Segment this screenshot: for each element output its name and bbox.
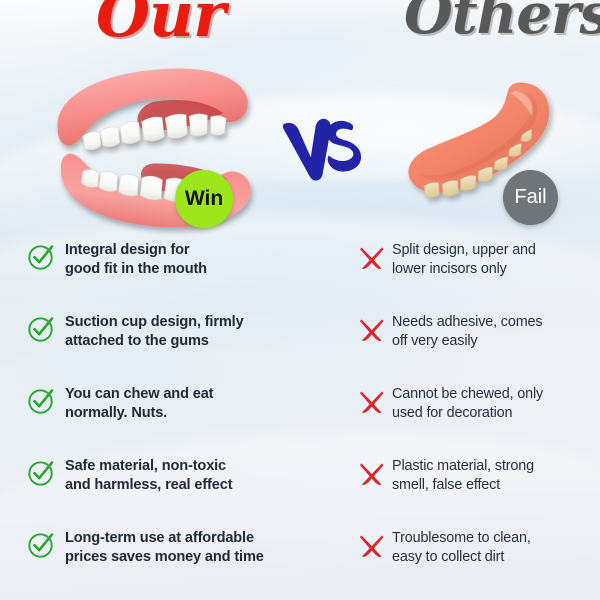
comparison-row: You can chew and eat normally. Nuts. Can… [0, 384, 600, 456]
pro-item-text: Integral design for good fit in the mout… [65, 240, 207, 280]
comparison-infographic: Our Others [0, 0, 600, 600]
con-item: Needs adhesive, comes off very easily [357, 312, 597, 351]
comparison-row: Integral design for good fit in the mout… [0, 240, 600, 312]
red-x-mark-icon [357, 315, 386, 344]
pro-item-text: You can chew and eat normally. Nuts. [65, 384, 213, 424]
badge-fail: Fail [503, 170, 558, 225]
con-item: Troublesome to clean, easy to collect di… [357, 528, 597, 567]
heading-our: Our [96, 0, 225, 46]
red-x-mark-icon [357, 387, 386, 416]
pro-item-text: Suction cup design, firmly attached to t… [65, 312, 244, 352]
con-item-text: Needs adhesive, comes off very easily [392, 312, 542, 351]
con-item: Plastic material, strong smell, false ef… [357, 456, 597, 495]
green-check-circle-icon [27, 458, 56, 487]
con-item: Split design, upper and lower incisors o… [357, 240, 597, 279]
heading-others: Others [404, 0, 600, 42]
versus-mark [279, 108, 366, 191]
green-check-circle-icon [27, 386, 56, 415]
red-x-mark-icon [357, 459, 386, 488]
comparison-list: Integral design for good fit in the mout… [0, 240, 600, 600]
red-x-mark-icon [357, 243, 386, 272]
pro-item: You can chew and eat normally. Nuts. [27, 384, 312, 424]
pro-item-text: Long-term use at affordable prices saves… [65, 528, 264, 568]
pro-item-text: Safe material, non-toxic and harmless, r… [65, 456, 232, 496]
con-item-text: Troublesome to clean, easy to collect di… [392, 528, 531, 567]
comparison-row: Suction cup design, firmly attached to t… [0, 312, 600, 384]
pro-item: Safe material, non-toxic and harmless, r… [27, 456, 312, 496]
badge-win: Win [175, 170, 233, 228]
green-check-circle-icon [27, 242, 56, 271]
con-item: Cannot be chewed, only used for decorati… [357, 384, 597, 423]
pro-item: Long-term use at affordable prices saves… [27, 528, 312, 568]
product-image-our-denture [44, 62, 274, 237]
comparison-row: Safe material, non-toxic and harmless, r… [0, 456, 600, 528]
green-check-circle-icon [27, 314, 56, 343]
green-check-circle-icon [27, 530, 56, 559]
pro-item: Suction cup design, firmly attached to t… [27, 312, 312, 352]
con-item-text: Plastic material, strong smell, false ef… [392, 456, 534, 495]
con-item-text: Split design, upper and lower incisors o… [392, 240, 536, 279]
con-item-text: Cannot be chewed, only used for decorati… [392, 384, 543, 423]
pro-item: Integral design for good fit in the mout… [27, 240, 312, 280]
comparison-row: Long-term use at affordable prices saves… [0, 528, 600, 600]
red-x-mark-icon [357, 531, 386, 560]
